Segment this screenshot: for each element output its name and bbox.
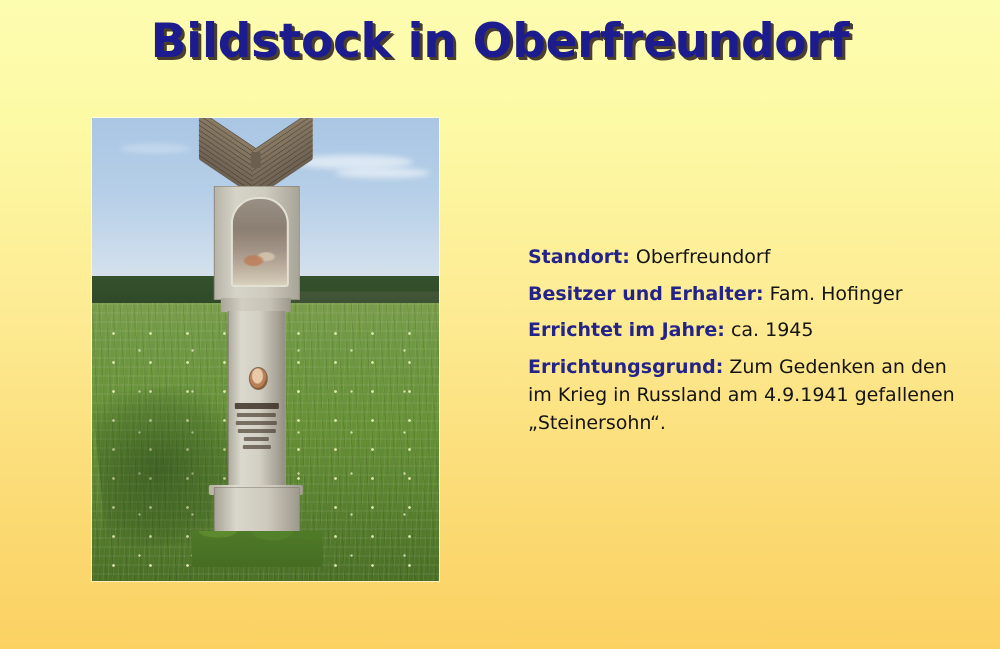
slide-root: Bildstock in Oberfreundorf <box>0 0 1000 649</box>
page-title: Bildstock in Oberfreundorf <box>0 14 1000 69</box>
niche-painting <box>230 197 288 287</box>
portrait-medallion-icon <box>248 367 267 390</box>
detail-label: Besitzer und Erhalter: <box>528 283 764 305</box>
bildstock-shrine <box>207 150 303 567</box>
detail-label: Standort: <box>528 246 630 268</box>
roof-ridge <box>250 152 260 168</box>
detail-row-errichtungsgrund: Errichtungsgrund: Zum Gedenken an den im… <box>528 354 976 437</box>
cloud-icon <box>120 144 190 153</box>
shrine-photo <box>92 118 439 581</box>
detail-value: Fam. Hofinger <box>770 283 903 305</box>
photo-scene <box>92 118 439 581</box>
detail-row-errichtet: Errichtet im Jahre: ca. 1945 <box>528 317 976 345</box>
detail-value: ca. 1945 <box>731 319 814 341</box>
inscription-line <box>237 413 276 417</box>
detail-row-standort: Standort: Oberfreundorf <box>528 244 976 272</box>
detail-label: Errichtet im Jahre: <box>528 319 725 341</box>
shrine-column <box>227 311 285 493</box>
inscription-line <box>234 403 278 409</box>
inscription-line <box>244 437 270 441</box>
shrine-details: Standort: Oberfreundorf Besitzer und Erh… <box>528 244 976 437</box>
inscription-line <box>236 421 277 425</box>
inscription-line <box>242 445 270 449</box>
grass-foreground <box>191 531 321 567</box>
shrine-neck <box>220 298 290 312</box>
detail-label: Errichtungsgrund: <box>528 356 723 378</box>
shrine-head <box>213 186 299 300</box>
inscription-line <box>238 429 276 433</box>
detail-value: Oberfreundorf <box>636 246 771 268</box>
detail-row-besitzer: Besitzer und Erhalter: Fam. Hofinger <box>528 281 976 309</box>
cloud-icon <box>335 168 430 178</box>
column-inscription <box>234 403 278 449</box>
